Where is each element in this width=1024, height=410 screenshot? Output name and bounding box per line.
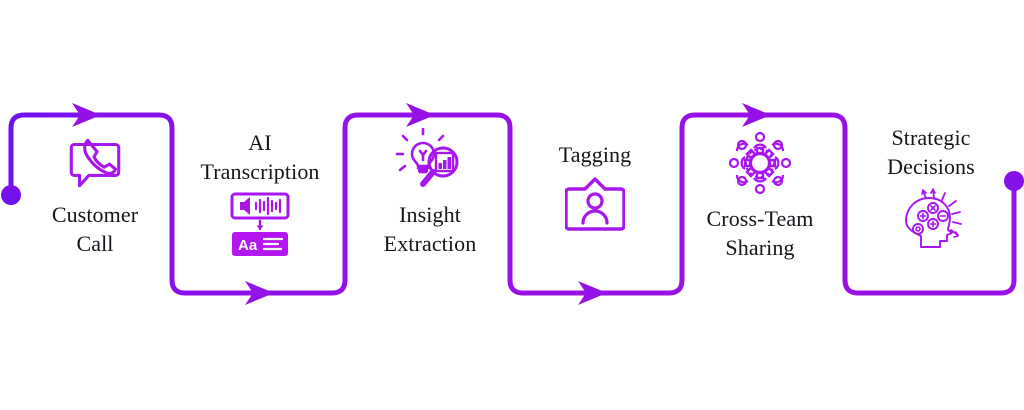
stage-customer-call[interactable]: Customer Call: [0, 128, 190, 258]
stage-strategic-decisions[interactable]: Strategic Decisions: [836, 123, 1024, 249]
stage-label: Tagging: [500, 140, 690, 169]
svg-text:Aa: Aa: [238, 237, 258, 254]
stage-label: Strategic Decisions: [836, 123, 1024, 181]
stage-label: Insight Extraction: [335, 200, 525, 258]
stage-label: AI Transcription: [165, 128, 355, 186]
stage-label: Cross-Team Sharing: [665, 204, 855, 262]
stage-tagging[interactable]: Tagging: [500, 140, 690, 233]
audio-to-text-icon: Aa: [230, 192, 290, 258]
person-badge-icon: [565, 175, 625, 233]
phone-speech-bubble-icon: [62, 128, 128, 194]
stage-ai-transcription[interactable]: AI Transcription Aa: [165, 128, 355, 258]
stage-cross-team-sharing[interactable]: Cross-Team Sharing: [665, 128, 855, 262]
stage-label: Customer Call: [0, 200, 190, 258]
head-ideas-icon: [892, 187, 970, 249]
network-gear-icon: [725, 128, 795, 198]
lightbulb-magnifier-icon: [395, 128, 465, 194]
stage-insight-extraction[interactable]: Insight Extraction: [335, 128, 525, 258]
process-flow-diagram: Customer Call AI Transcription: [0, 0, 1024, 410]
